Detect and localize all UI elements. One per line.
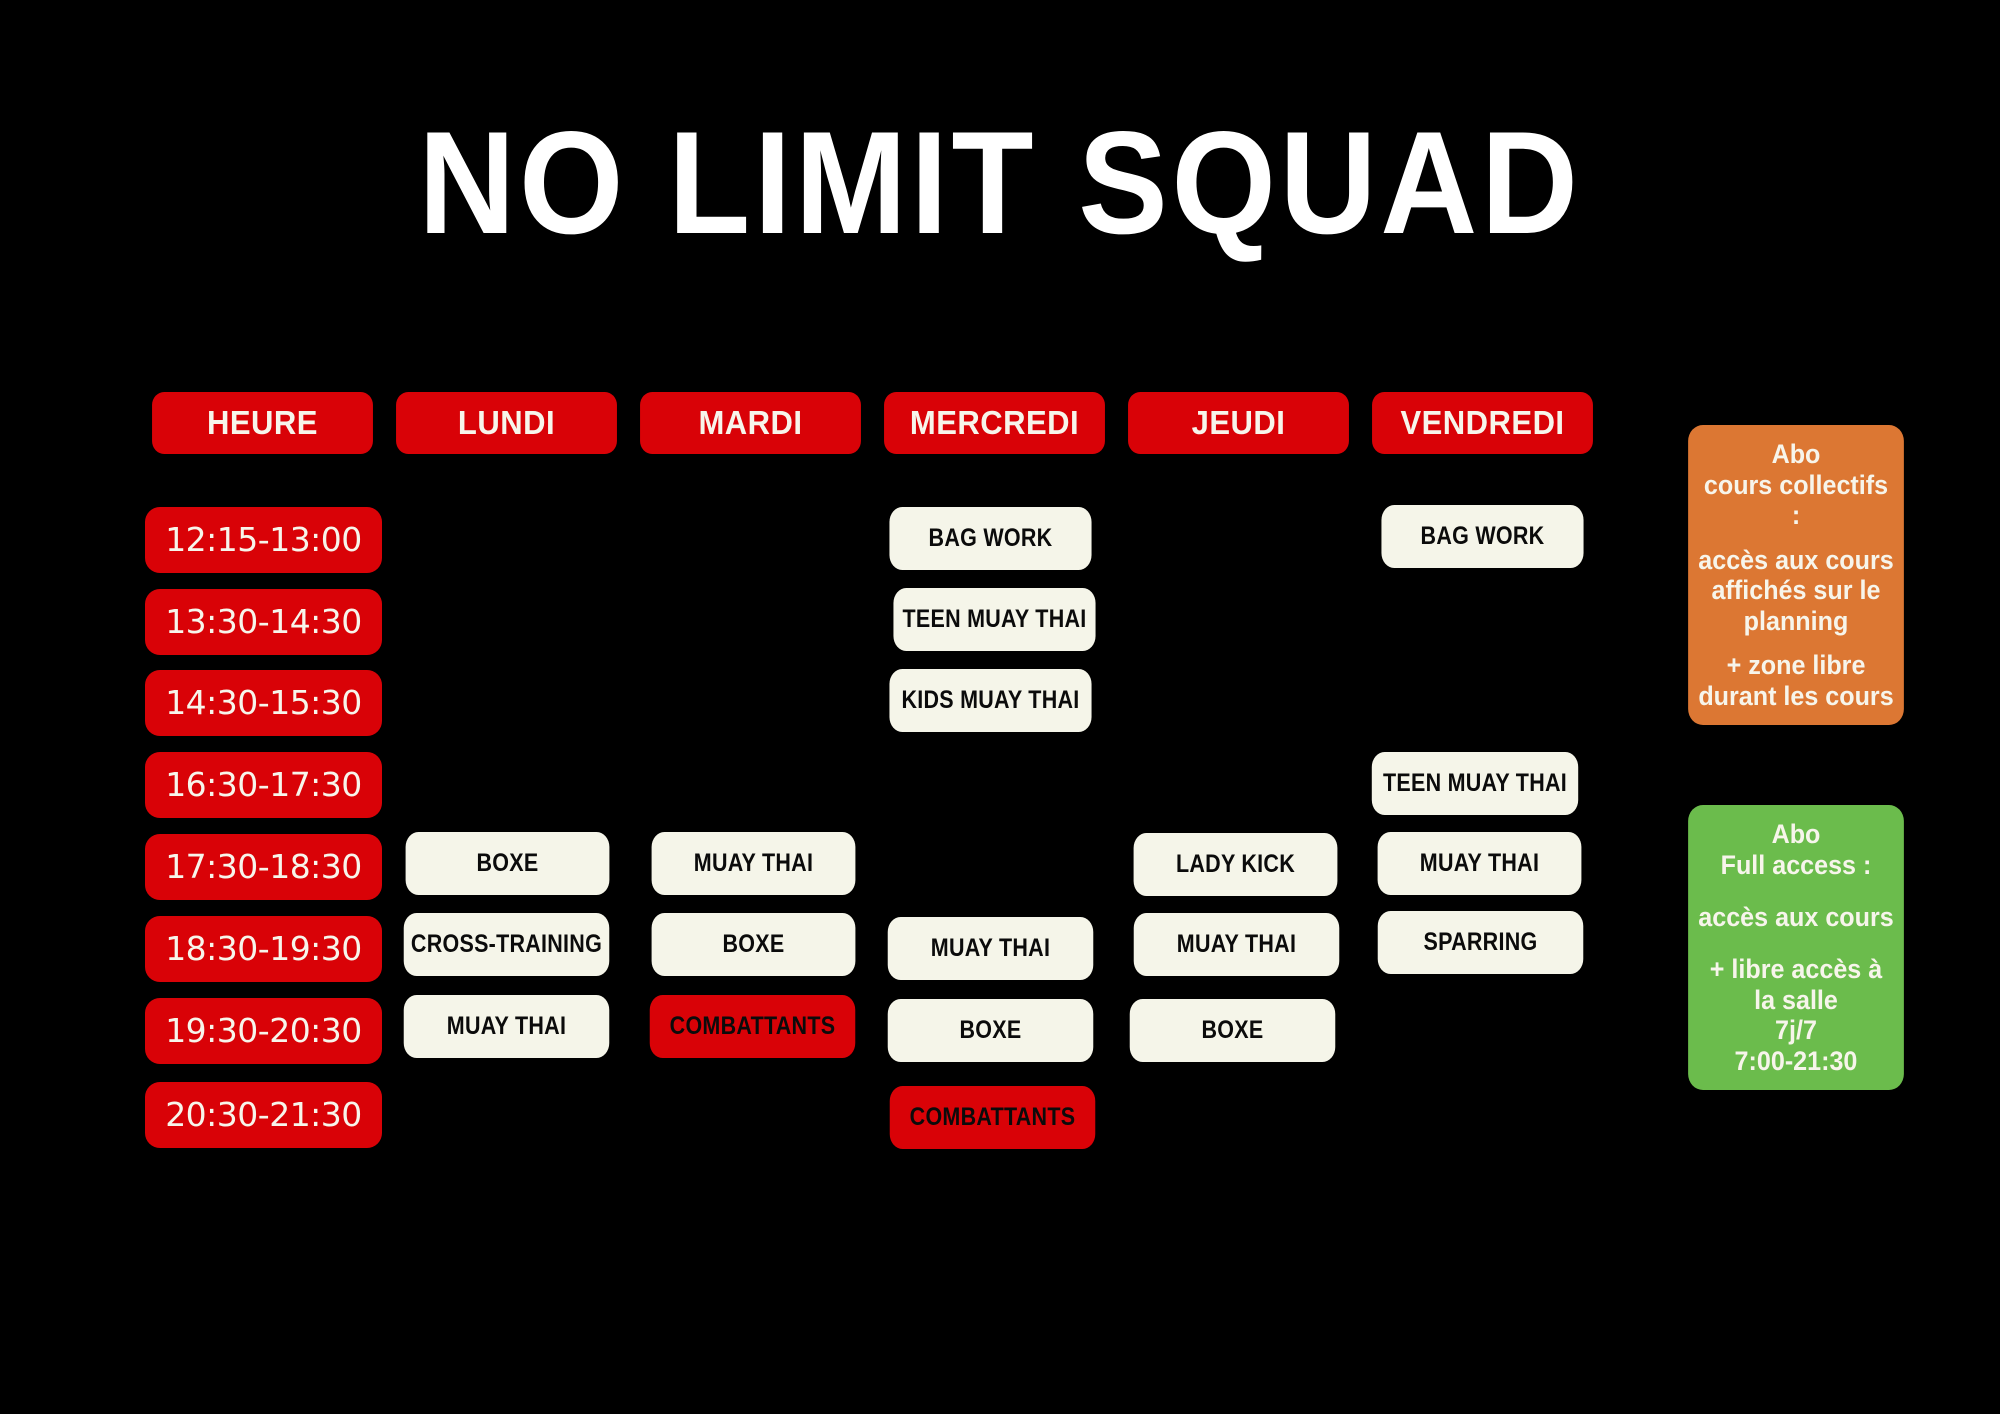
time-slot: 13:30-14:30 [145, 589, 382, 655]
time-slot: 18:30-19:30 [145, 916, 382, 982]
time-slot: 20:30-21:30 [145, 1082, 382, 1148]
time-slot: 17:30-18:30 [145, 834, 382, 900]
class-cell[interactable]: MUAY THAI [652, 832, 856, 895]
time-slot: 14:30-15:30 [145, 670, 382, 736]
class-cell[interactable]: MUAY THAI [1134, 913, 1340, 976]
class-cell[interactable]: SPARRING [1378, 911, 1584, 974]
time-slot: 16:30-17:30 [145, 752, 382, 818]
class-cell[interactable]: MUAY THAI [404, 995, 610, 1058]
class-cell[interactable]: COMBATTANTS [890, 1086, 1096, 1149]
class-cell[interactable]: BAG WORK [889, 507, 1091, 570]
class-cell[interactable]: BAG WORK [1381, 505, 1583, 568]
column-header-mercredi: MERCREDI [884, 392, 1105, 454]
info-box-abo-cours-collectifs: Abo cours collectifs : accès aux cours a… [1688, 425, 1904, 725]
class-cell[interactable]: CROSS-TRAINING [404, 913, 610, 976]
info-line: Abo cours collectifs : [1697, 439, 1894, 531]
class-cell[interactable]: KIDS MUAY THAI [889, 669, 1091, 732]
column-header-lundi: LUNDI [396, 392, 617, 454]
info-line: accès aux cours affichés sur le planning [1698, 545, 1893, 637]
page-title: NO LIMIT SQUAD [80, 108, 1920, 258]
class-cell[interactable]: BOXE [1130, 999, 1336, 1062]
info-box-abo-full-access: Abo Full access : accès aux cours + libr… [1688, 805, 1904, 1090]
class-cell[interactable]: TEEN MUAY THAI [893, 588, 1095, 651]
class-cell[interactable]: MUAY THAI [1378, 832, 1582, 895]
class-cell[interactable]: BOXE [406, 832, 610, 895]
info-line: + zone libre durant les cours [1698, 650, 1893, 711]
info-line: + libre accès à la salle 7j/7 7:00-21:30 [1710, 954, 1882, 1076]
class-cell[interactable]: LADY KICK [1134, 833, 1338, 896]
class-cell[interactable]: BOXE [652, 913, 856, 976]
column-header-mardi: MARDI [640, 392, 861, 454]
class-cell[interactable]: TEEN MUAY THAI [1372, 752, 1578, 815]
info-line: Abo Full access : [1721, 819, 1872, 880]
info-line: accès aux cours [1698, 902, 1893, 933]
column-header-jeudi: JEUDI [1128, 392, 1349, 454]
class-cell[interactable]: MUAY THAI [888, 917, 1094, 980]
class-cell[interactable]: BOXE [888, 999, 1094, 1062]
time-slot: 12:15-13:00 [145, 507, 382, 573]
time-slot: 19:30-20:30 [145, 998, 382, 1064]
column-header-vendredi: VENDREDI [1372, 392, 1593, 454]
class-cell[interactable]: COMBATTANTS [650, 995, 856, 1058]
column-header-heure: HEURE [152, 392, 373, 454]
